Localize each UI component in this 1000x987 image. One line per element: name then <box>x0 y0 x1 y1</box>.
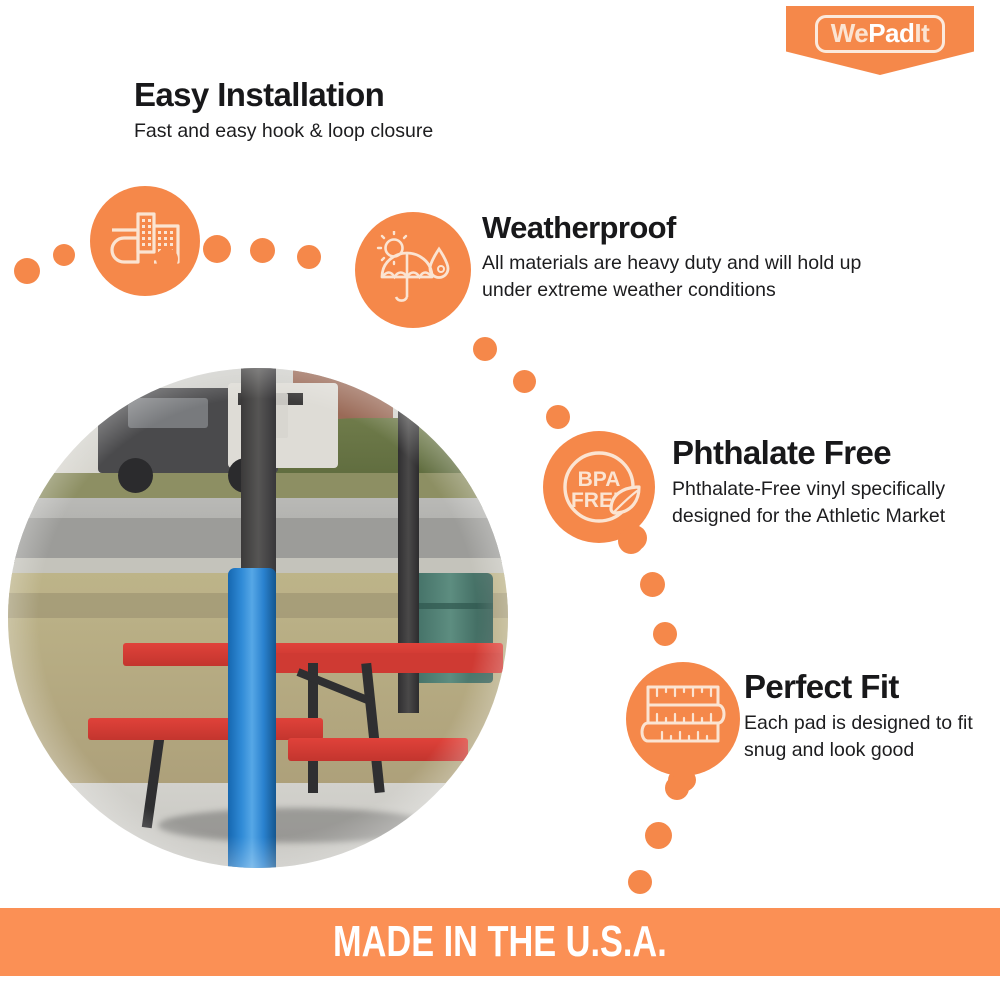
trail-dot <box>473 337 497 361</box>
bpa-icon-label-line1: BPA <box>578 468 621 491</box>
trail-dot <box>653 622 677 646</box>
feature-title-perfect-fit: Perfect Fit <box>744 670 994 705</box>
trail-dot <box>640 572 665 597</box>
trail-dot <box>250 238 275 263</box>
brand-logo-it: It <box>914 18 929 48</box>
trail-dot <box>14 258 40 284</box>
feature-title-easy-installation: Easy Installation <box>134 78 594 113</box>
trail-dot <box>546 405 570 429</box>
umbrella-sun-raindrop-icon <box>355 212 471 328</box>
brand-logo-pad: Pad <box>868 18 914 48</box>
trail-dot <box>645 822 672 849</box>
feature-block-easy-installation: Easy Installation Fast and easy hook & l… <box>134 78 594 145</box>
brand-logo-we: We <box>831 18 869 48</box>
made-in-usa-banner: MADE IN THE U.S.A. <box>0 908 1000 976</box>
made-in-usa-text: MADE IN THE U.S.A. <box>333 917 667 967</box>
feature-description-phthalate-free: Phthalate-Free vinyl specifically design… <box>672 476 972 531</box>
feature-description-perfect-fit: Each pad is designed to fit snug and loo… <box>744 710 994 765</box>
feature-block-perfect-fit: Perfect Fit Each pad is designed to fit … <box>744 670 994 765</box>
feature-block-phthalate-free: Phthalate Free Phthalate-Free vinyl spec… <box>672 436 972 531</box>
trail-dot <box>618 528 644 554</box>
trail-dot <box>203 235 231 263</box>
product-photo <box>8 368 508 868</box>
trail-dot <box>297 245 321 269</box>
feature-description-easy-installation: Fast and easy hook & loop closure <box>134 118 594 146</box>
trail-dot <box>665 776 689 800</box>
brand-logo-frame: WePadIt <box>815 15 946 53</box>
infographic-page: WePadIt Easy Installation Fast and easy … <box>0 0 1000 987</box>
measuring-tape-icon <box>626 662 740 776</box>
brand-logo-badge: WePadIt <box>786 6 974 75</box>
feature-description-weatherproof: All materials are heavy duty and will ho… <box>482 250 912 305</box>
trail-dot <box>513 370 536 393</box>
feature-block-weatherproof: Weatherproof All materials are heavy dut… <box>482 212 912 305</box>
hook-and-loop-icon <box>90 186 200 296</box>
trail-dot <box>156 248 178 270</box>
trail-dot <box>53 244 75 266</box>
trail-dot <box>628 870 652 894</box>
feature-title-weatherproof: Weatherproof <box>482 212 912 245</box>
feature-title-phthalate-free: Phthalate Free <box>672 436 972 471</box>
